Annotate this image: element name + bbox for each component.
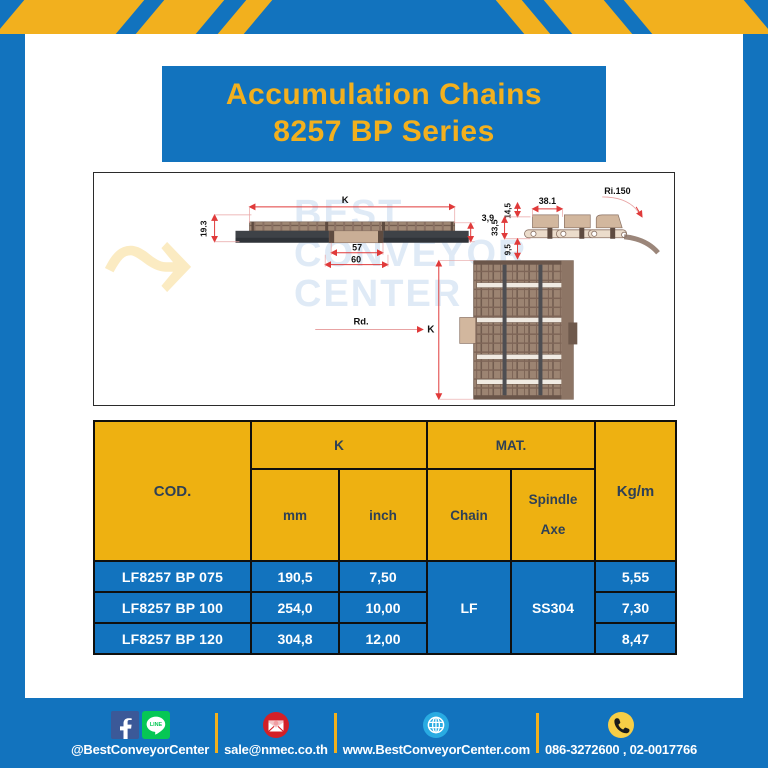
phone-icon[interactable] [607, 711, 635, 739]
header-kg-per-m: Kg/m [595, 421, 676, 561]
svg-text:LINE: LINE [149, 722, 162, 728]
dim-label-rd: Rd. [353, 316, 368, 327]
specification-table: COD. K MAT. Kg/m mm inch Chain Spindle A… [93, 420, 677, 655]
dim-label-k-side: K [342, 195, 349, 206]
cell-kgm: 5,55 [595, 561, 676, 592]
dim-label-38-1: 38.1 [539, 196, 556, 206]
globe-icon[interactable] [422, 711, 450, 739]
table-row: LF8257 BP 075 190,5 7,50 LF SS304 5,55 [94, 561, 676, 592]
diagram-svg: K 19.3 3,9 57 [94, 173, 674, 406]
header-mm: mm [251, 469, 339, 561]
footer-email[interactable]: sale@nmec.co.th [218, 698, 334, 768]
cell-spindle-material: SS304 [511, 561, 595, 654]
corner-chevron-left [0, 0, 330, 34]
header-axe: Axe [541, 522, 566, 537]
footer-phone[interactable]: 086-3272600 , 02-0017766 [539, 698, 703, 768]
footer-email-label: sale@nmec.co.th [224, 742, 328, 757]
header-chain: Chain [427, 469, 511, 561]
footer-website-label: www.BestConveyorCenter.com [343, 742, 530, 757]
cell-inch: 7,50 [339, 561, 427, 592]
poster-root: Accumulation Chains 8257 BP Series ⤳ BES… [0, 0, 768, 768]
cell-mm: 254,0 [251, 592, 339, 623]
dim-label-k-top: K [427, 324, 435, 335]
technical-diagram-panel: ⤳ BEST CONVEYOR CENTER [93, 172, 675, 406]
dim-label-9-5: 9,5 [504, 244, 513, 256]
cell-inch: 12,00 [339, 623, 427, 654]
footer-phone-label: 086-3272600 , 02-0017766 [545, 742, 697, 757]
title-banner: Accumulation Chains 8257 BP Series [162, 66, 606, 162]
footer-website[interactable]: www.BestConveyorCenter.com [337, 698, 536, 768]
cell-cod: LF8257 BP 100 [94, 592, 251, 623]
dim-label-57: 57 [352, 243, 362, 253]
cell-cod: LF8257 BP 075 [94, 561, 251, 592]
corner-chevron-right [438, 0, 768, 34]
dim-label-60: 60 [351, 255, 361, 265]
header-inch: inch [339, 469, 427, 561]
title-line-1: Accumulation Chains [226, 77, 542, 114]
cell-kgm: 7,30 [595, 592, 676, 623]
footer-phone-icons [607, 710, 635, 740]
cell-mm: 190,5 [251, 561, 339, 592]
cell-mm: 304,8 [251, 623, 339, 654]
facebook-icon[interactable] [111, 711, 139, 739]
header-spindle: Spindle [529, 492, 578, 507]
footer-social[interactable]: LINE @BestConveyorCenter [65, 698, 215, 768]
cell-chain-material: LF [427, 561, 511, 654]
envelope-icon[interactable] [262, 711, 290, 739]
footer-email-icons [262, 710, 290, 740]
footer-website-icons [422, 710, 450, 740]
cell-inch: 10,00 [339, 592, 427, 623]
dim-label-19-3: 19.3 [199, 220, 209, 237]
footer-social-icons: LINE [111, 710, 170, 740]
header-spindle-axe: Spindle Axe [511, 469, 595, 561]
table-header-row-1: COD. K MAT. Kg/m [94, 421, 676, 469]
dim-label-33-5: 33,5 [490, 219, 500, 236]
line-icon[interactable]: LINE [142, 711, 170, 739]
cell-kgm: 8,47 [595, 623, 676, 654]
table-body: LF8257 BP 075 190,5 7,50 LF SS304 5,55 L… [94, 561, 676, 654]
footer-social-label: @BestConveyorCenter [71, 742, 209, 757]
header-cod: COD. [94, 421, 251, 561]
dim-label-ri-150: Ri.150 [604, 186, 630, 196]
header-k: K [251, 421, 427, 469]
contact-footer: LINE @BestConveyorCenter sale@nmec.co.th [0, 698, 768, 768]
dim-label-14-5: 14,5 [504, 203, 513, 219]
header-mat: MAT. [427, 421, 595, 469]
cell-cod: LF8257 BP 120 [94, 623, 251, 654]
title-line-2: 8257 BP Series [273, 114, 495, 151]
content-card: Accumulation Chains 8257 BP Series ⤳ BES… [25, 34, 743, 698]
table-head: COD. K MAT. Kg/m mm inch Chain Spindle A… [94, 421, 676, 561]
diagram-top-view: K Rd. [315, 261, 577, 400]
diagram-side-view: K 19.3 3,9 57 [199, 195, 495, 267]
diagram-link-view: 14,5 33,5 9,5 38.1 [490, 186, 658, 259]
